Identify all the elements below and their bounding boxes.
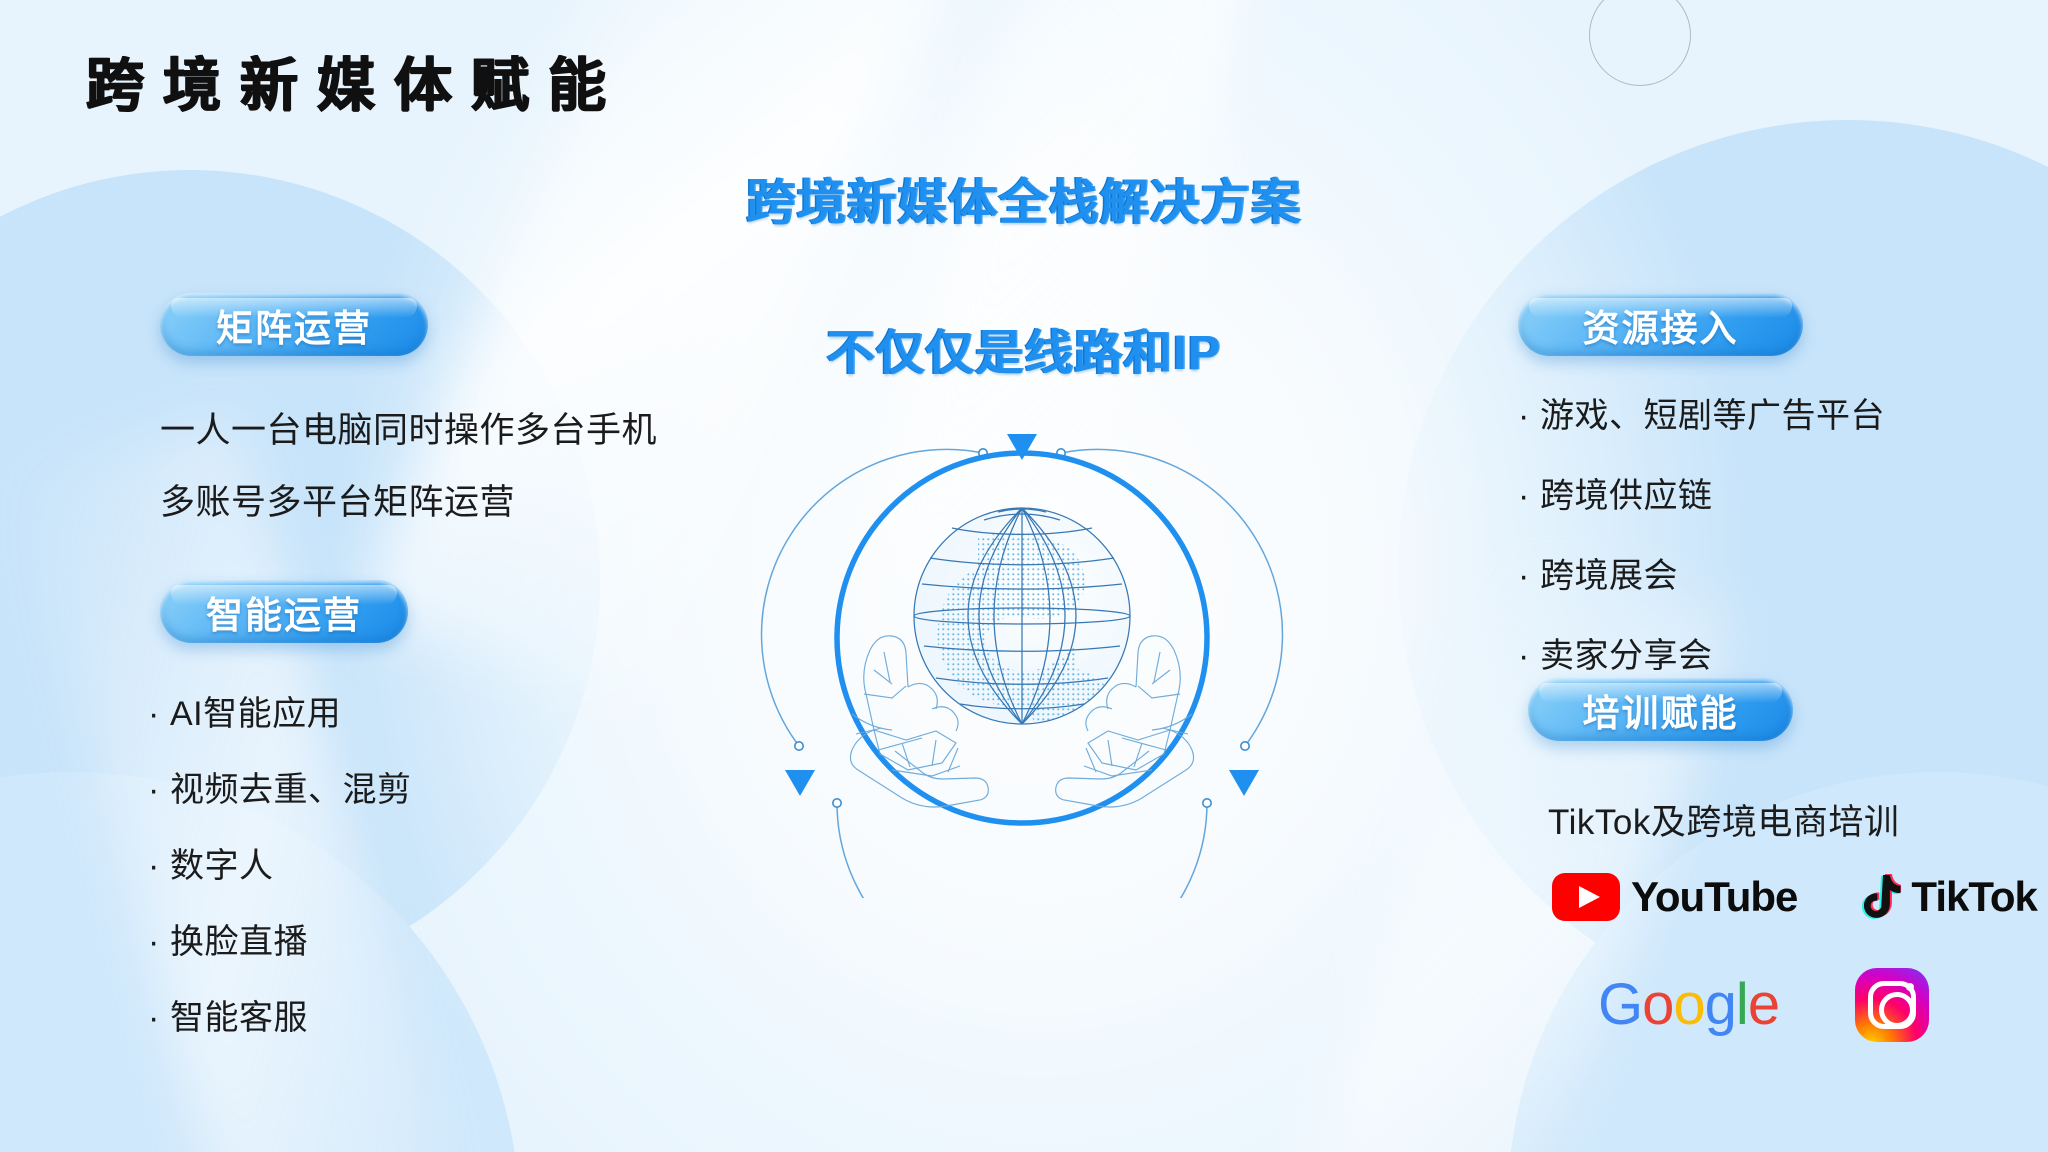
list-item: · 换脸直播: [148, 914, 412, 963]
tiktok-wordmark: TikTok: [1911, 873, 2036, 921]
instagram-flash-dot-icon: [1906, 983, 1914, 991]
google-letter-g1: G: [1598, 976, 1642, 1034]
list-item-label: 数字人: [170, 838, 274, 887]
tiktok-note-icon: [1855, 872, 1901, 922]
list-item-label: 智能客服: [170, 990, 308, 1039]
bullet-dot-icon: ·: [148, 849, 170, 883]
google-letter-o1: o: [1642, 976, 1673, 1034]
youtube-logo[interactable]: YouTube: [1552, 873, 1797, 921]
page-title: 跨境新媒体赋能: [86, 38, 625, 122]
bullet-dot-icon: ·: [1518, 399, 1540, 433]
center-heading-primary: 跨境新媒体全栈解决方案: [0, 163, 2048, 234]
list-item: · 跨境供应链: [1518, 468, 1885, 517]
bullet-dot-icon: ·: [1518, 559, 1540, 593]
globe-wireframe: [914, 508, 1130, 734]
list-item-label: 卖家分享会: [1540, 628, 1713, 677]
pill-resource-access[interactable]: 资源接入: [1518, 293, 1803, 356]
list-item: · 智能客服: [148, 990, 412, 1039]
list-item: · 游戏、短剧等广告平台: [1518, 388, 1885, 437]
globe-in-hands-illustration: [752, 398, 1292, 898]
google-letter-e: e: [1748, 976, 1779, 1034]
list-item-label: 换脸直播: [170, 914, 308, 963]
bullet-dot-icon: ·: [148, 1001, 170, 1035]
instagram-logo[interactable]: [1855, 968, 1929, 1042]
google-letter-l: l: [1736, 976, 1748, 1034]
list-item-label: 跨境供应链: [1540, 468, 1713, 517]
bullet-dot-icon: ·: [148, 773, 170, 807]
pill-label: 培训赋能: [1583, 683, 1739, 737]
slide-root: 跨境新媒体赋能 跨境新媒体全栈解决方案 不仅仅是线路和IP 矩阵运营 一人一台电…: [0, 0, 2048, 1152]
decorative-circle-outline: [1589, 0, 1691, 86]
matrix-line-2: 多账号多平台矩阵运营: [160, 474, 515, 525]
matrix-line-1: 一人一台电脑同时操作多台手机: [160, 402, 657, 453]
platform-logo-row-2: G o o g l e: [1598, 968, 1929, 1042]
list-item-label: 视频去重、混剪: [170, 762, 412, 811]
bullet-dot-icon: ·: [148, 697, 170, 731]
training-description: TikTok及跨境电商培训: [1548, 794, 1899, 845]
smart-operations-list: · AI智能应用 · 视频去重、混剪 · 数字人 · 换脸直播 · 智能客服: [148, 686, 412, 1066]
pill-label: 矩阵运营: [216, 298, 372, 352]
pill-matrix-operations[interactable]: 矩阵运营: [160, 293, 428, 356]
list-item: · AI智能应用: [148, 686, 412, 735]
bullet-dot-icon: ·: [1518, 639, 1540, 673]
pill-label: 智能运营: [206, 585, 362, 639]
resource-access-list: · 游戏、短剧等广告平台 · 跨境供应链 · 跨境展会 · 卖家分享会: [1518, 388, 1885, 708]
google-letter-g2: g: [1705, 976, 1736, 1034]
google-letter-o2: o: [1673, 976, 1704, 1034]
list-item-label: 跨境展会: [1540, 548, 1678, 597]
youtube-play-icon: [1552, 873, 1620, 921]
pill-training-empowerment[interactable]: 培训赋能: [1528, 678, 1793, 741]
list-item: · 卖家分享会: [1518, 628, 1885, 677]
pill-smart-operations[interactable]: 智能运营: [160, 580, 408, 643]
google-logo[interactable]: G o o g l e: [1598, 976, 1779, 1034]
tiktok-logo[interactable]: TikTok: [1855, 872, 2036, 922]
bullet-dot-icon: ·: [148, 925, 170, 959]
platform-logo-row-1: YouTube TikTok: [1552, 872, 2037, 922]
list-item: · 跨境展会: [1518, 548, 1885, 597]
bullet-dot-icon: ·: [1518, 479, 1540, 513]
youtube-wordmark: YouTube: [1631, 873, 1797, 921]
pill-label: 资源接入: [1583, 298, 1739, 352]
list-item-label: AI智能应用: [170, 686, 341, 735]
list-item-label: 游戏、短剧等广告平台: [1540, 388, 1885, 437]
list-item: · 视频去重、混剪: [148, 762, 412, 811]
list-item: · 数字人: [148, 838, 412, 887]
